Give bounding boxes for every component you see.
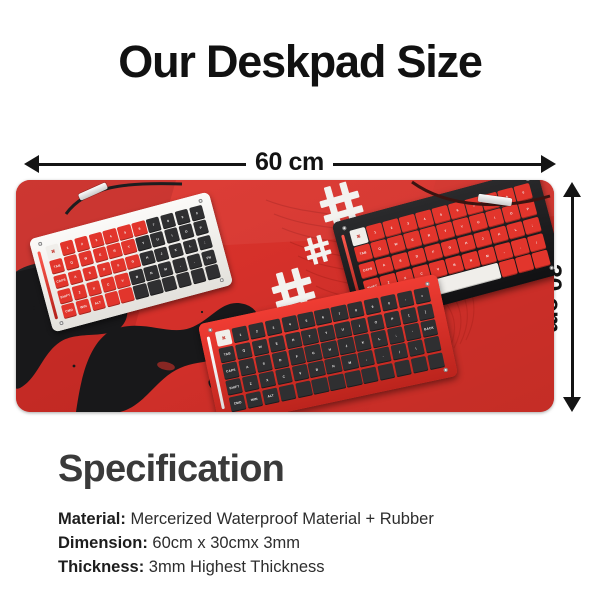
- page-title: Our Deskpad Size: [0, 38, 600, 85]
- keycap: 4: [281, 315, 299, 333]
- keycap: ': [403, 323, 421, 341]
- keycap: F: [288, 348, 306, 366]
- keycap: CAPS: [53, 273, 69, 290]
- usb-cable-left: [56, 180, 186, 220]
- keycap: [295, 380, 313, 398]
- keycap: C: [275, 367, 293, 385]
- specification-value: Mercerized Waterproof Material + Rubber: [126, 510, 434, 528]
- keycap: 6: [314, 308, 332, 326]
- keycap: X: [86, 280, 102, 297]
- keycap: -: [396, 290, 414, 308]
- keycap: 1: [59, 239, 75, 256]
- keycap: CAPS: [222, 362, 240, 380]
- keycap: H: [321, 341, 339, 359]
- keycap: [394, 359, 412, 377]
- keycap: U: [150, 231, 166, 248]
- keycap: .: [186, 253, 202, 270]
- keycap: I: [350, 317, 368, 335]
- keycap: 2: [248, 322, 266, 340]
- keycap: G: [125, 254, 141, 271]
- keycap: 9: [363, 297, 381, 315]
- keycap: E: [92, 246, 108, 263]
- keycap: D: [96, 261, 112, 278]
- keycap: J: [473, 229, 492, 248]
- keycap: [361, 366, 379, 384]
- keycap: L: [182, 238, 198, 255]
- keycap: K: [490, 225, 509, 244]
- keycap: Q: [63, 254, 79, 271]
- arrow-right-head-icon: [541, 155, 556, 173]
- keycap: SHIFT: [57, 288, 73, 305]
- keycap: Y: [452, 217, 471, 236]
- keycap: Y: [135, 235, 151, 252]
- keycap: =: [413, 287, 431, 305]
- keycap: J: [337, 337, 355, 355]
- keycap: [427, 352, 445, 370]
- keycap: [344, 370, 362, 388]
- specification-row: Material: Mercerized Waterproof Material…: [58, 508, 568, 532]
- keycap: CMD: [229, 394, 247, 412]
- keycap: /: [390, 343, 408, 361]
- keycap: H: [457, 234, 476, 253]
- keycap: A: [67, 269, 83, 286]
- arrow-down-head-icon: [563, 397, 581, 412]
- keycap: TAB: [354, 244, 373, 263]
- specification-row: Thickness: 3mm Highest Thickness: [58, 556, 568, 580]
- keycap: .: [374, 346, 392, 364]
- keycap: K: [354, 334, 372, 352]
- keycap: 2: [74, 236, 90, 253]
- width-dimension-label: 60 cm: [246, 148, 333, 177]
- keycap: BACK: [420, 319, 438, 337]
- keycap: ;: [387, 327, 405, 345]
- keycap: H: [139, 250, 155, 267]
- arrow-line: [571, 194, 574, 400]
- keycap: W: [387, 235, 406, 254]
- keycap: [311, 377, 329, 395]
- keycap: 0: [380, 294, 398, 312]
- keycap: R: [420, 226, 439, 245]
- keycap: Q: [235, 342, 253, 360]
- keycap: Z: [71, 284, 87, 301]
- keycap: [328, 373, 346, 391]
- keycap: M: [341, 353, 359, 371]
- keycap: R: [107, 243, 123, 260]
- keycap: M: [157, 261, 173, 278]
- keycap: V: [114, 272, 130, 289]
- keycap: O: [178, 223, 194, 240]
- keycap: E: [268, 335, 286, 353]
- keycap: ⌘: [215, 329, 233, 347]
- keycap: 5: [117, 224, 133, 241]
- specification-list: Material: Mercerized Waterproof Material…: [58, 508, 568, 580]
- keycap: [423, 336, 441, 354]
- keycap: [: [400, 307, 418, 325]
- keycap: D: [408, 247, 427, 266]
- specification-value: 60cm x 30cmx 3mm: [148, 534, 300, 552]
- keycap: WIN: [245, 391, 263, 409]
- keycap: T: [301, 328, 319, 346]
- keycap: A: [375, 256, 394, 275]
- usb-cable-right: [408, 180, 554, 220]
- keycap: [377, 363, 395, 381]
- keycap: Z: [242, 374, 260, 392]
- keycap: S: [391, 252, 410, 271]
- keycap: A: [238, 358, 256, 376]
- keycap: W: [251, 338, 269, 356]
- keycap: X: [258, 371, 276, 389]
- keycap: \: [407, 339, 425, 357]
- keycap: ⌘: [45, 243, 61, 260]
- keycap: ,: [172, 257, 188, 274]
- keycap: 3: [88, 232, 104, 249]
- keycap: U: [334, 321, 352, 339]
- keycap: [410, 356, 428, 374]
- keycap: 3: [264, 318, 282, 336]
- keycap: Y: [317, 324, 335, 342]
- keycap: Q: [370, 239, 389, 258]
- specification-label: Material:: [58, 510, 126, 528]
- keycap: ALT: [262, 387, 280, 405]
- keycap: O: [367, 314, 385, 332]
- specification-heading: Specification: [58, 448, 284, 491]
- keycap: SHIFT: [225, 378, 243, 396]
- specification-value: 3mm Highest Thickness: [144, 558, 324, 576]
- specification-label: Dimension:: [58, 534, 148, 552]
- keycap: [278, 384, 296, 402]
- deskpad-surface: ⌘1234567890TABQWERTYUIOPCAPSASDFGHJKL;SH…: [16, 180, 554, 412]
- keycap: E: [403, 230, 422, 249]
- keycap: N: [143, 264, 159, 281]
- keycap: V: [291, 364, 309, 382]
- keycap: 1: [231, 325, 249, 343]
- specification-row: Dimension: 60cm x 30cmx 3mm: [58, 532, 568, 556]
- keycap: P: [383, 310, 401, 328]
- keycap: K: [168, 242, 184, 259]
- keycap: 5: [297, 311, 315, 329]
- keycap: B: [308, 360, 326, 378]
- keycap: G: [304, 344, 322, 362]
- deskpad-infographic: Our Deskpad Size 60 cm 30 cm: [0, 0, 600, 600]
- keycap: ,: [357, 350, 375, 368]
- keycap: L: [370, 330, 388, 348]
- keycap: F: [110, 257, 126, 274]
- specification-label: Thickness:: [58, 558, 144, 576]
- keycap: I: [164, 227, 180, 244]
- keycap: S: [82, 265, 98, 282]
- keycap: T: [121, 239, 137, 256]
- keycap: W: [78, 250, 94, 267]
- keycap: N: [324, 357, 342, 375]
- keycap: B: [129, 268, 145, 285]
- keycap: G: [440, 238, 459, 257]
- keycap: 6: [131, 220, 147, 237]
- keycap: ]: [416, 303, 434, 321]
- keycap: TAB: [218, 345, 236, 363]
- keycap: C: [100, 276, 116, 293]
- keycap: T: [436, 222, 455, 241]
- keycap: S: [255, 355, 273, 373]
- keycap: 8: [347, 301, 365, 319]
- deskpad-product-image: ⌘1234567890TABQWERTYUIOPCAPSASDFGHJKL;SH…: [16, 180, 554, 412]
- keycap: R: [284, 331, 302, 349]
- keycap: 7: [330, 304, 348, 322]
- keycap: D: [271, 351, 289, 369]
- keycap: L: [506, 221, 525, 240]
- keycap: TAB: [49, 258, 65, 275]
- keycap: CAPS: [358, 260, 377, 279]
- keycap: F: [424, 243, 443, 262]
- keycap: 4: [103, 228, 119, 245]
- keycap: J: [154, 246, 170, 263]
